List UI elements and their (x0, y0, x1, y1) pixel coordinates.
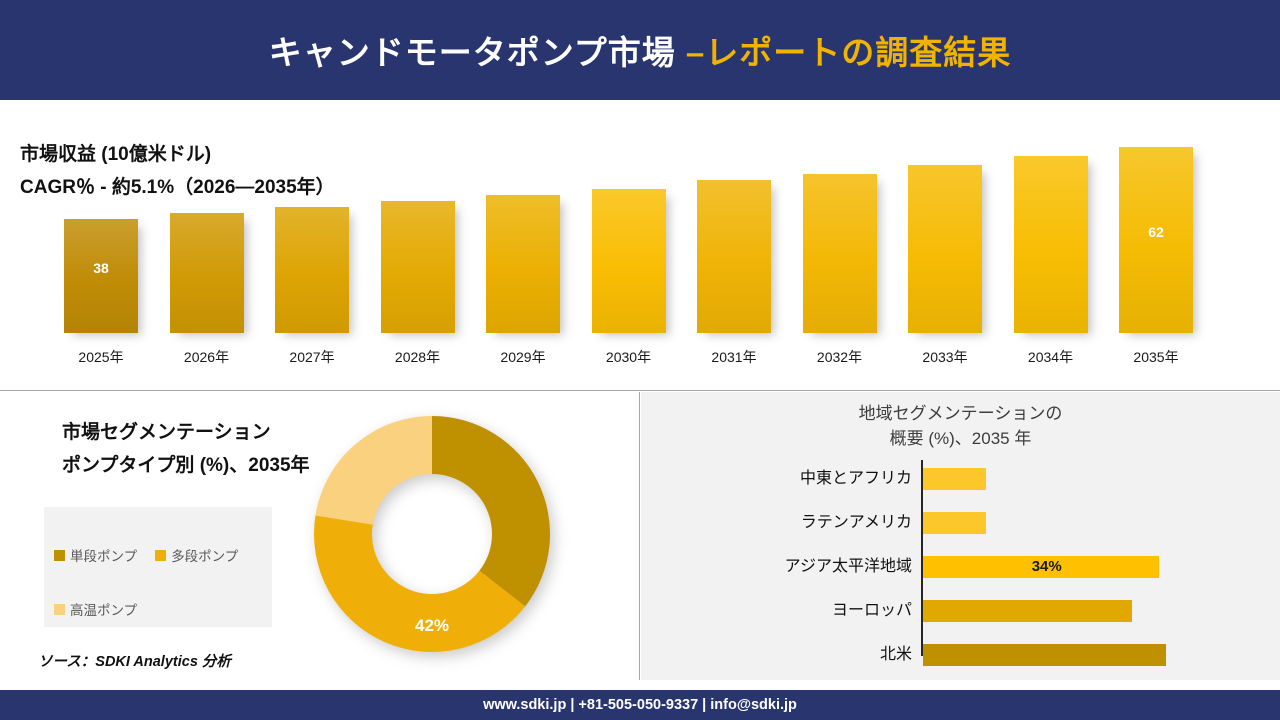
revenue-bar-group: 2028年 (381, 201, 455, 333)
revenue-category-label: 2032年 (795, 347, 885, 367)
segmentation-title-line1: 市場セグメンテーション (62, 417, 310, 450)
revenue-bar-group: 2030年 (592, 189, 666, 333)
legend-label: 高温ポンプ (70, 599, 137, 619)
revenue-bar-group: 382025年 (64, 219, 138, 333)
region-bar[interactable] (923, 600, 1132, 622)
page-title-primary: キャンドモータポンプ市場 (269, 34, 686, 71)
revenue-category-label: 2035年 (1111, 347, 1201, 367)
revenue-bar (170, 213, 244, 333)
legend-row: 高温ポンプ (54, 599, 137, 619)
segmentation-title: 市場セグメンテーション ポンプタイプ別 (%)、2035年 (62, 417, 310, 482)
donut-slice[interactable] (315, 416, 432, 525)
revenue-bar-value: 62 (1119, 224, 1193, 240)
legend-row: 単段ポンプ多段ポンプ (54, 545, 238, 565)
legend-swatch-icon (54, 604, 65, 615)
legend-label: 単段ポンプ (70, 545, 137, 565)
revenue-category-label: 2034年 (1006, 347, 1096, 367)
revenue-bar (697, 180, 771, 333)
footer-contact-text: www.sdki.jp | +81-505-050-9337 | info@sd… (483, 697, 797, 713)
legend-swatch-icon (155, 550, 166, 561)
revenue-bar-group: 2034年 (1014, 156, 1088, 333)
revenue-bar-value: 38 (64, 260, 138, 276)
region-bar-row: 中東とアフリカ (641, 468, 1280, 490)
revenue-bar-group: 622035年 (1119, 147, 1193, 333)
revenue-bar (1014, 156, 1088, 333)
region-bar[interactable] (923, 468, 986, 490)
pump-type-segmentation-panel: 市場セグメンテーション ポンプタイプ別 (%)、2035年 単段ポンプ多段ポンプ… (0, 392, 640, 680)
legend-item[interactable]: 単段ポンプ (54, 545, 137, 565)
revenue-bar (908, 165, 982, 333)
legend-item[interactable]: 多段ポンプ (155, 545, 238, 565)
region-title-line1: 地域セグメンテーションの (641, 402, 1280, 427)
region-category-label: ヨーロッパ (682, 600, 912, 622)
region-bar-row: アジア太平洋地域34% (641, 556, 1280, 578)
region-bar-value: 34% (1032, 558, 1062, 575)
revenue-category-label: 2031年 (689, 347, 779, 367)
revenue-category-label: 2033年 (900, 347, 990, 367)
donut-slice[interactable] (432, 416, 550, 606)
region-bar-row: ヨーロッパ (641, 600, 1280, 622)
legend-item[interactable]: 高温ポンプ (54, 599, 137, 619)
region-bar[interactable] (923, 512, 986, 534)
revenue-bar (381, 201, 455, 333)
segmentation-title-line2: ポンプタイプ別 (%)、2035年 (62, 450, 310, 483)
revenue-bar (592, 189, 666, 333)
revenue-bar (275, 207, 349, 333)
revenue-bar (486, 195, 560, 333)
region-bar-chart: 中東とアフリカラテンアメリカアジア太平洋地域34%ヨーロッパ北米 (641, 460, 1280, 660)
region-category-label: 中東とアフリカ (682, 468, 912, 490)
page-title-accent: –レポートの調査結果 (686, 34, 1011, 71)
revenue-bar-group: 2032年 (803, 174, 877, 333)
region-bar[interactable] (923, 644, 1166, 666)
revenue-bar-group: 2031年 (697, 180, 771, 333)
revenue-bar-group: 2033年 (908, 165, 982, 333)
revenue-category-label: 2028年 (373, 347, 463, 367)
revenue-bar-group: 2027年 (275, 207, 349, 333)
revenue-category-label: 2025年 (56, 347, 146, 367)
region-title: 地域セグメンテーションの 概要 (%)、2035 年 (641, 402, 1280, 451)
region-bar-row: 北米 (641, 644, 1280, 666)
region-title-line2: 概要 (%)、2035 年 (641, 427, 1280, 452)
pump-type-donut-chart (312, 414, 552, 654)
legend-swatch-icon (54, 550, 65, 561)
revenue-bar (64, 219, 138, 333)
revenue-category-label: 2030年 (584, 347, 674, 367)
revenue-bar-group: 2026年 (170, 213, 244, 333)
revenue-bar (803, 174, 877, 333)
revenue-bar (1119, 147, 1193, 333)
revenue-category-label: 2027年 (267, 347, 357, 367)
regional-segmentation-panel: 地域セグメンテーションの 概要 (%)、2035 年 中東とアフリカラテンアメリ… (641, 392, 1280, 680)
revenue-category-label: 2029年 (478, 347, 568, 367)
region-category-label: ラテンアメリカ (682, 512, 912, 534)
page-footer: www.sdki.jp | +81-505-050-9337 | info@sd… (0, 690, 1280, 720)
donut-svg (312, 414, 552, 654)
revenue-category-label: 2026年 (162, 347, 252, 367)
revenue-column-chart: 382025年2026年2027年2028年2029年2030年2031年203… (0, 100, 1280, 391)
region-category-label: アジア太平洋地域 (682, 556, 912, 578)
market-revenue-panel: 市場収益 (10億米ドル) CAGR％ - 約5.1%（2026―2035年） … (0, 100, 1280, 391)
source-note: ソース：SDKI Analytics 分析 (38, 650, 231, 671)
region-category-label: 北米 (682, 644, 912, 666)
region-bar-row: ラテンアメリカ (641, 512, 1280, 534)
page-header: キャンドモータポンプ市場 –レポートの調査結果 (0, 0, 1280, 100)
page-title: キャンドモータポンプ市場 –レポートの調査結果 (269, 26, 1012, 74)
segmentation-legend: 単段ポンプ多段ポンプ高温ポンプ (44, 507, 272, 627)
revenue-bar-group: 2029年 (486, 195, 560, 333)
legend-label: 多段ポンプ (171, 545, 238, 565)
